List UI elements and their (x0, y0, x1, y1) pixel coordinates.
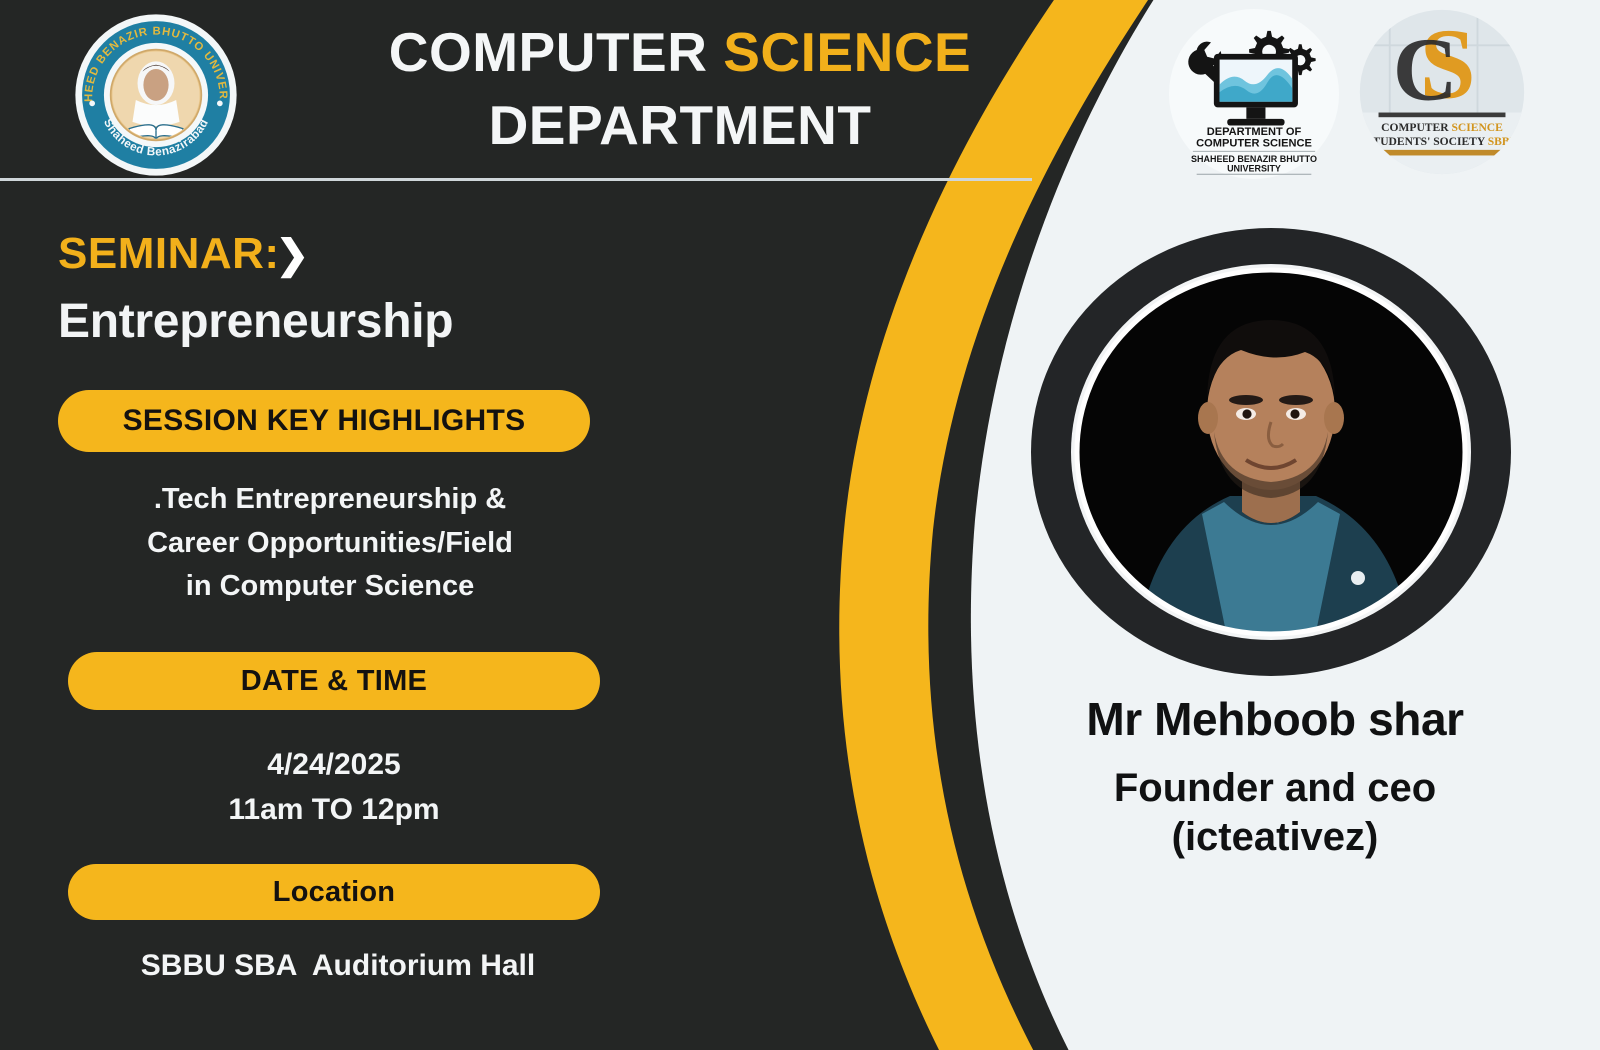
society-line1b: SCIENCE (1451, 121, 1503, 134)
seminar-date: 4/24/2025 (68, 742, 600, 787)
header-divider (0, 178, 1032, 181)
page-title: COMPUTER SCIENCE DEPARTMENT (300, 16, 1060, 162)
location-pill: Location (68, 864, 600, 920)
title-line-1: COMPUTER SCIENCE (300, 16, 1060, 89)
svg-text:STUDENTS' SOCIETY SBBU: STUDENTS' SOCIETY SBBU (1366, 135, 1519, 148)
society-monogram-c: C (1393, 20, 1458, 119)
seminar-label: SEMINAR: (58, 229, 280, 278)
highlight-line-3: in Computer Science (40, 565, 620, 609)
session-highlights-body: .Tech Entrepreneurship & Career Opportun… (40, 478, 620, 609)
speaker-portrait (1028, 226, 1514, 678)
speaker-role: Founder and ceo (975, 764, 1575, 813)
date-time-pill: DATE & TIME (68, 652, 600, 710)
title-line-2: DEPARTMENT (300, 89, 1060, 162)
poster-header: SHAHEED BENAZIR BHUTTO UNIVERSITY Shahee… (0, 0, 1600, 182)
seminar-details: SEMINAR:❯ Entrepreneurship SESSION KEY H… (0, 182, 900, 1050)
session-key-highlights-pill: SESSION KEY HIGHLIGHTS (58, 390, 590, 452)
seminar-topic: Entrepreneurship (58, 294, 453, 349)
dept-logo-line2: COMPUTER SCIENCE (1196, 138, 1312, 150)
date-time-value: 4/24/2025 11am TO 12pm (68, 742, 600, 832)
university-seal: SHAHEED BENAZIR BHUTTO UNIVERSITY Shahee… (57, 11, 255, 179)
dept-logo-line1: DEPARTMENT OF (1207, 126, 1302, 138)
cs-students-society-logo: S C COMPUTER SCIENCE STUDENTS' SOCIETY S… (1358, 8, 1526, 176)
department-logo: DEPARTMENT OF COMPUTER SCIENCE SHAHEED B… (1168, 8, 1340, 180)
title-computer: COMPUTER (389, 21, 708, 83)
title-science: SCIENCE (723, 21, 971, 83)
highlight-line-1: .Tech Entrepreneurship & (40, 478, 620, 522)
svg-text:COMPUTER SCIENCE: COMPUTER SCIENCE (1381, 121, 1503, 134)
highlight-line-2: Career Opportunities/Field (40, 522, 620, 566)
speaker-role-block: Founder and ceo (icteativez) (975, 764, 1575, 862)
speaker-company: (icteativez) (975, 813, 1575, 862)
location-value: SBBU SBA Auditorium Hall (48, 949, 628, 983)
dept-logo-line4: UNIVERSITY (1227, 163, 1281, 173)
society-line2b: SBBU (1488, 135, 1519, 148)
seminar-label-row: SEMINAR:❯ (58, 229, 310, 279)
chevron-right-icon: ❯ (276, 233, 310, 277)
speaker-name: Mr Mehboob shar (975, 692, 1575, 746)
seminar-time: 11am TO 12pm (68, 787, 600, 832)
dept-logo-line3: SHAHEED BENAZIR BHUTTO (1191, 154, 1317, 164)
society-line1a: COMPUTER (1381, 121, 1451, 134)
society-line2a: STUDENTS' SOCIETY (1366, 135, 1488, 148)
seminar-poster: SHAHEED BENAZIR BHUTTO UNIVERSITY Shahee… (0, 0, 1600, 1050)
